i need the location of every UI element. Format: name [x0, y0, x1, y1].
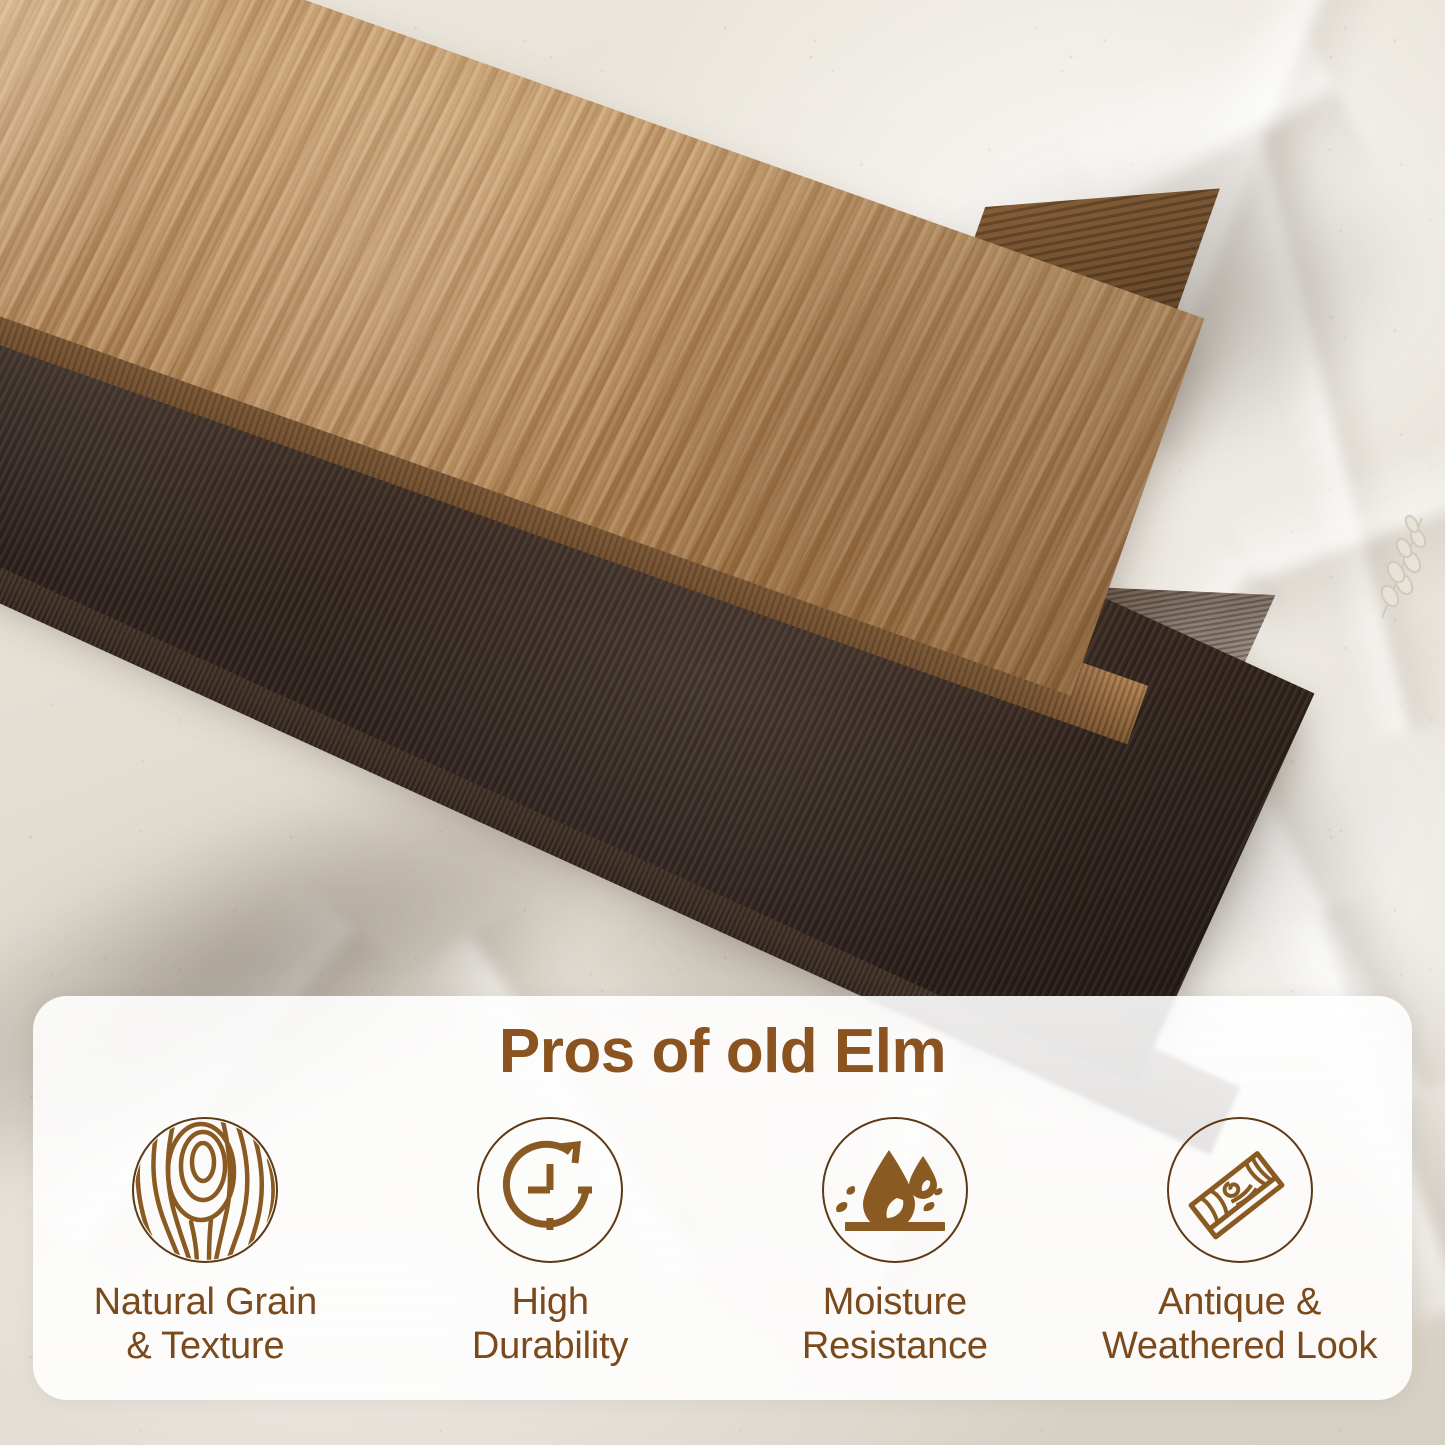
pros-panel: Pros of old Elm: [33, 996, 1412, 1400]
feature-label: Natural Grain & Texture: [94, 1280, 317, 1368]
feature-label: Moisture Resistance: [802, 1280, 988, 1368]
feature-item-moisture-resistance: Moisture Resistance: [723, 1114, 1068, 1368]
wood-grain-circle-icon: [129, 1114, 281, 1266]
dried-sprig-icon: [1352, 498, 1445, 628]
water-droplets-icon: [819, 1114, 971, 1266]
feature-item-antique-look: Antique & Weathered Look: [1067, 1114, 1412, 1368]
feature-label: Antique & Weathered Look: [1102, 1280, 1377, 1368]
feature-label: High Durability: [472, 1280, 628, 1368]
feature-item-natural-grain: Natural Grain & Texture: [33, 1114, 378, 1368]
product-infographic: Pros of old Elm: [0, 0, 1445, 1445]
panel-title: Pros of old Elm: [33, 1019, 1412, 1084]
clock-arrow-icon: [474, 1114, 626, 1266]
feature-item-high-durability: High Durability: [378, 1114, 723, 1368]
feature-columns: Natural Grain & Texture: [33, 1114, 1412, 1368]
wood-plank-icon: [1164, 1114, 1316, 1266]
